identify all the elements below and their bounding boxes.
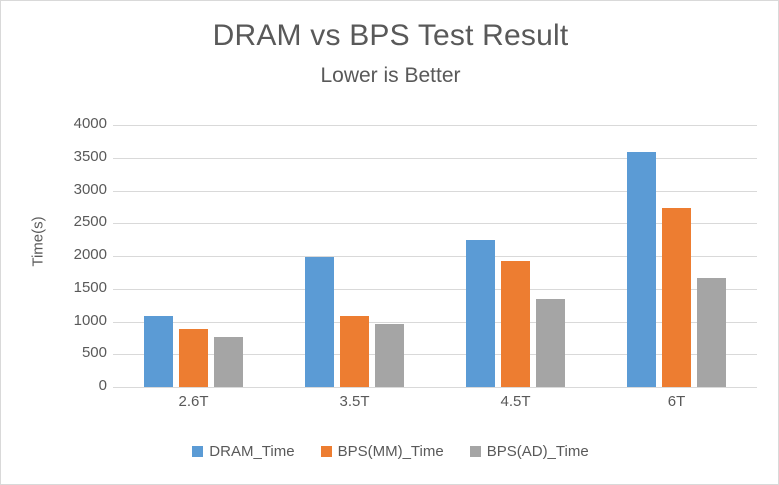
x-axis-tick-labels: 2.6T3.5T4.5T6T: [113, 393, 757, 417]
y-tick-label: 1500: [37, 279, 107, 296]
legend-item-DRAM_Time[interactable]: DRAM_Time: [192, 443, 294, 460]
legend-label: BPS(MM)_Time: [338, 443, 444, 460]
gridline: [113, 125, 757, 126]
bar-6T-BPS(MM)_Time[interactable]: [662, 208, 691, 387]
x-tick-label-6T: 6T: [596, 393, 757, 410]
gridline: [113, 322, 757, 323]
chart-title: DRAM vs BPS Test Result: [1, 19, 779, 53]
bar-3.5T-BPS(AD)_Time[interactable]: [375, 324, 404, 387]
y-tick-label: 2000: [37, 246, 107, 263]
bar-4.5T-BPS(AD)_Time[interactable]: [536, 299, 565, 387]
y-tick-label: 3000: [37, 181, 107, 198]
gridline: [113, 354, 757, 355]
legend-item-BPS(AD)_Time[interactable]: BPS(AD)_Time: [470, 443, 589, 460]
x-tick-label-3.5T: 3.5T: [274, 393, 435, 410]
gridline: [113, 223, 757, 224]
bar-4.5T-BPS(MM)_Time[interactable]: [501, 261, 530, 387]
gridline: [113, 191, 757, 192]
gridline: [113, 256, 757, 257]
y-tick-label: 500: [37, 344, 107, 361]
bar-2.6T-BPS(MM)_Time[interactable]: [179, 329, 208, 387]
legend-label: BPS(AD)_Time: [487, 443, 589, 460]
bar-2.6T-BPS(AD)_Time[interactable]: [214, 337, 243, 387]
y-tick-label: 3500: [37, 148, 107, 165]
y-tick-label: 0: [37, 377, 107, 394]
gridline: [113, 158, 757, 159]
bar-3.5T-BPS(MM)_Time[interactable]: [340, 316, 369, 387]
x-tick-label-2.6T: 2.6T: [113, 393, 274, 410]
bar-6T-BPS(AD)_Time[interactable]: [697, 278, 726, 387]
bar-4.5T-DRAM_Time[interactable]: [466, 240, 495, 387]
bar-2.6T-DRAM_Time[interactable]: [144, 316, 173, 387]
y-tick-label: 1000: [37, 312, 107, 329]
legend-swatch-icon: [321, 446, 332, 457]
legend-item-BPS(MM)_Time[interactable]: BPS(MM)_Time: [321, 443, 444, 460]
legend-swatch-icon: [470, 446, 481, 457]
bar-3.5T-DRAM_Time[interactable]: [305, 257, 334, 387]
gridline: [113, 387, 757, 388]
y-tick-label: 4000: [37, 115, 107, 132]
x-tick-label-4.5T: 4.5T: [435, 393, 596, 410]
legend-label: DRAM_Time: [209, 443, 294, 460]
plot-area: [113, 125, 757, 387]
bar-6T-DRAM_Time[interactable]: [627, 152, 656, 387]
legend-swatch-icon: [192, 446, 203, 457]
chart-legend: DRAM_TimeBPS(MM)_TimeBPS(AD)_Time: [1, 443, 779, 460]
gridline: [113, 289, 757, 290]
chart-container: DRAM vs BPS Test Result Lower is Better …: [0, 0, 779, 485]
y-axis-tick-labels: 40003500300025002000150010005000: [33, 125, 107, 387]
chart-subtitle: Lower is Better: [1, 64, 779, 88]
y-tick-label: 2500: [37, 213, 107, 230]
